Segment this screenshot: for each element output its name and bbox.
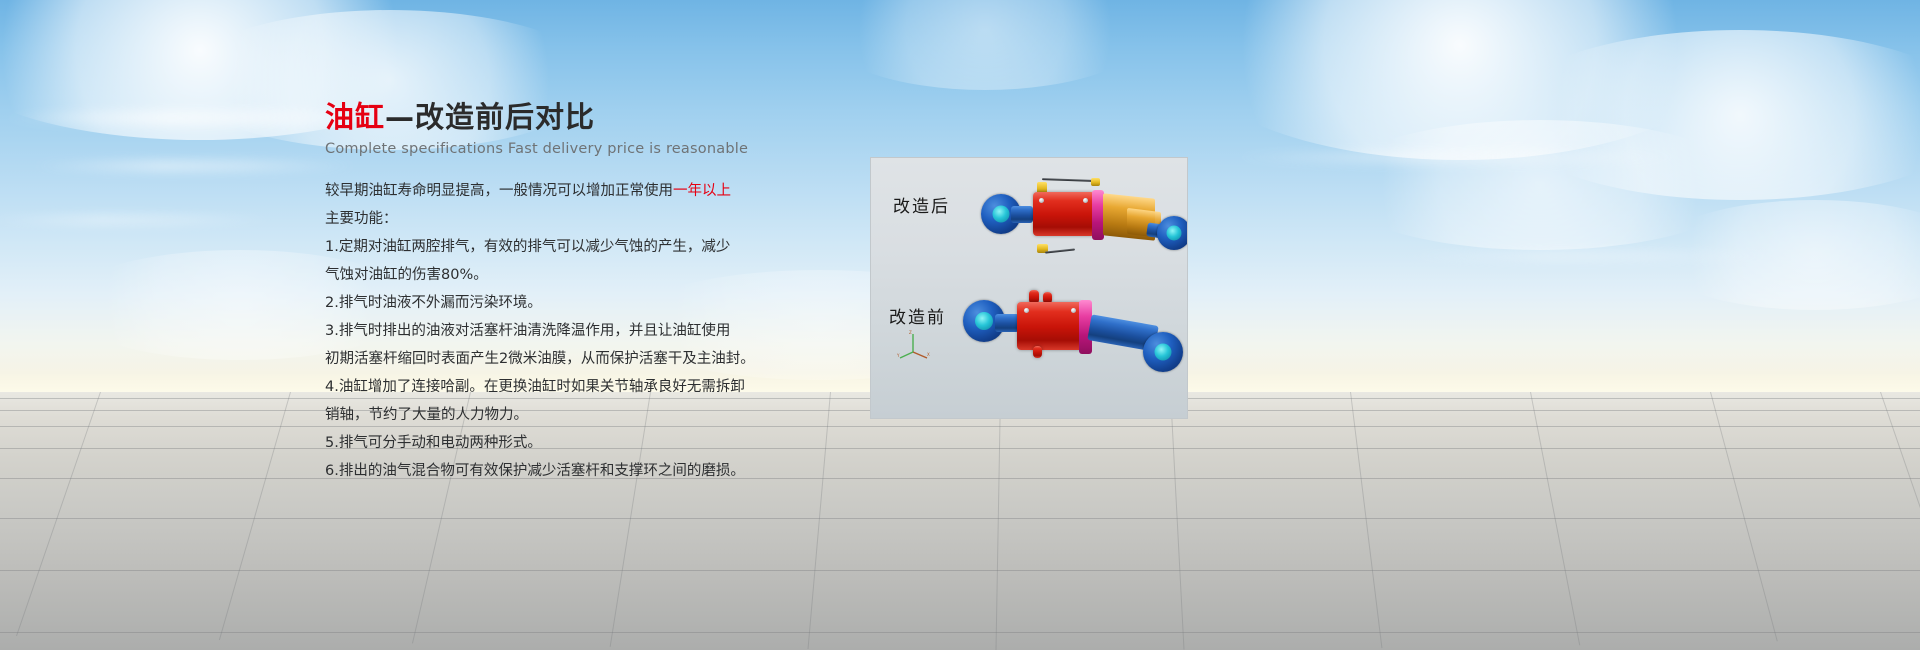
ground-gridline <box>1350 392 1382 648</box>
cylinder-bottom-port <box>1033 346 1042 358</box>
cylinder-vent-tube <box>1042 178 1094 182</box>
cylinder-bolt <box>1024 308 1029 313</box>
ground-gridline <box>0 632 1920 633</box>
feature-line: 3.排气时排出的油液对活塞杆油清洗降温作用，并且让油缸使用 <box>325 317 885 345</box>
ground-plaza <box>0 392 1920 650</box>
page-title-highlight: 油缸 <box>325 100 385 134</box>
cylinder-eye-bore <box>993 206 1010 223</box>
ground-gridline <box>1170 392 1185 650</box>
cylinder-eye-bore <box>1167 226 1182 241</box>
ground-gridline <box>995 392 1001 650</box>
feature-list: 较早期油缸寿命明显提高，一般情况可以增加正常使用一年以上 主要功能： 1.定期对… <box>325 177 885 485</box>
cylinder-vent-fitting <box>1091 178 1100 186</box>
feature-line-accent: 一年以上 <box>673 183 731 199</box>
feature-line: 较早期油缸寿命明显提高，一般情况可以增加正常使用一年以上 <box>325 177 885 205</box>
hero-banner: 油缸—改造前后对比 Complete specifications Fast d… <box>0 0 1920 650</box>
coordinate-axes-icon: Z X Y <box>897 330 931 360</box>
cylinder-rear-neck <box>995 314 1019 332</box>
feature-line: 5.排气可分手动和电动两种形式。 <box>325 429 885 457</box>
ground-gridline <box>0 478 1920 479</box>
before-modification-cylinder <box>961 284 1188 404</box>
feature-line: 6.排出的油气混合物可有效保护减少活塞杆和支撑环之间的磨损。 <box>325 457 885 485</box>
feature-line-text: 较早期油缸寿命明显提高，一般情况可以增加正常使用 <box>325 183 673 199</box>
cylinder-bolt <box>1071 308 1076 313</box>
page-title: 油缸—改造前后对比 <box>325 100 885 134</box>
ground-gridline <box>219 392 291 640</box>
feature-line: 2.排气时油液不外漏而污染环境。 <box>325 289 885 317</box>
ground-gridline <box>1880 392 1920 636</box>
cylinder-front-eye <box>1157 216 1188 250</box>
ground-gridline <box>0 426 1920 427</box>
feature-line: 主要功能： <box>325 205 885 233</box>
cylinder-eye-bore <box>975 312 993 330</box>
label-after-modification: 改造后 <box>893 192 950 217</box>
product-image-panel: 改造后 改造前 Z X Y <box>870 157 1188 419</box>
ground-gridline <box>16 392 101 636</box>
feature-line: 初期活塞杆缩回时表面产生2微米油膜，从而保护活塞干及主油封。 <box>325 345 885 373</box>
ground-gridline <box>0 518 1920 519</box>
feature-line: 销轴，节约了大量的人力物力。 <box>325 401 885 429</box>
svg-text:Y: Y <box>897 353 900 358</box>
cylinder-bolt <box>1083 198 1088 203</box>
feature-line: 气蚀对油缸的伤害80%。 <box>325 261 885 289</box>
cylinder-bolt <box>1039 198 1044 203</box>
ground-gridline <box>0 448 1920 449</box>
cylinder-rear-neck <box>1011 206 1033 223</box>
cylinder-eye-bore <box>1155 344 1172 361</box>
ground-gridline <box>0 570 1920 571</box>
label-before-modification: 改造前 <box>889 303 946 328</box>
svg-text:X: X <box>927 352 930 357</box>
ground-gridline <box>1710 392 1778 641</box>
after-modification-cylinder <box>979 176 1188 286</box>
page-subtitle: Complete specifications Fast delivery pr… <box>325 141 885 157</box>
page-title-rest: —改造前后对比 <box>385 100 595 134</box>
svg-text:Z: Z <box>909 330 912 335</box>
cylinder-front-eye <box>1143 332 1183 372</box>
banner-text-block: 油缸—改造前后对比 Complete specifications Fast d… <box>325 100 885 485</box>
feature-line: 1.定期对油缸两腔排气，有效的排气可以减少气蚀的产生，减少 <box>325 233 885 261</box>
cylinder-drain-tube <box>1045 248 1075 253</box>
feature-line: 4.油缸增加了连接哈副。在更换油缸时如果关节轴承良好无需拆卸 <box>325 373 885 401</box>
